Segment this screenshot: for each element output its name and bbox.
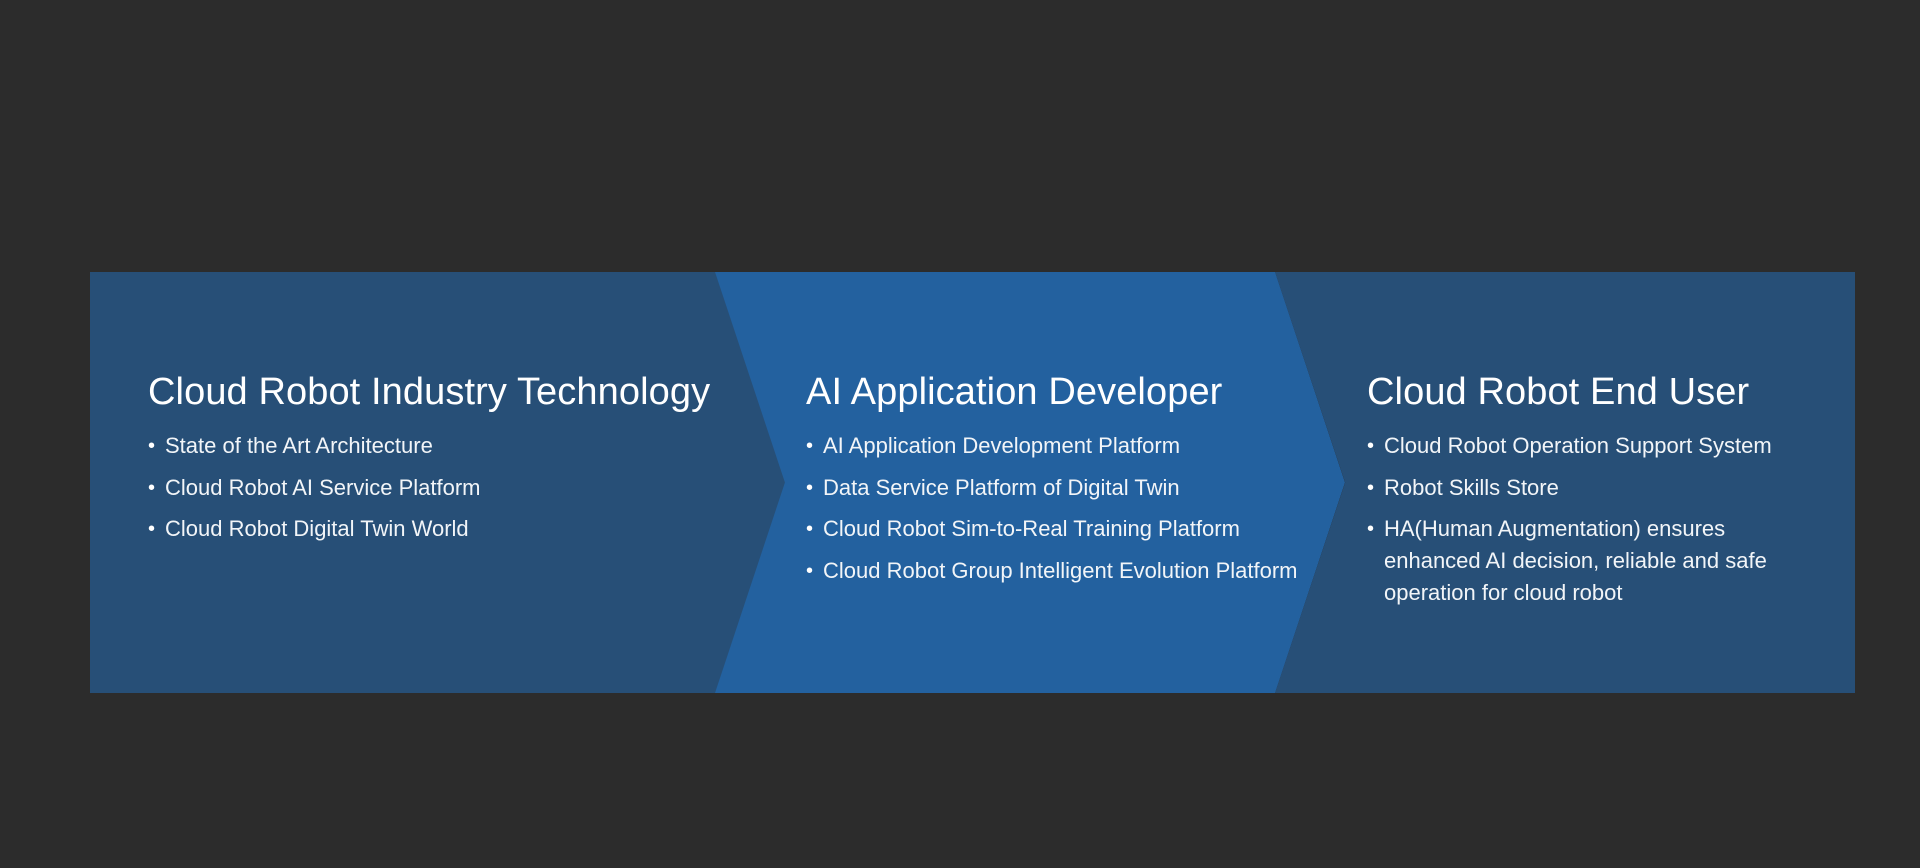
list-item: Cloud Robot Group Intelligent Evolution … [806,555,1346,587]
list-item: HA(Human Augmentation) ensures enhanced … [1367,513,1784,609]
list-item: Cloud Robot Operation Support System [1367,430,1784,462]
panel-title-end-user: Cloud Robot End User [1367,371,1749,414]
panel-content-industry-technology: Cloud Robot Industry Technology State of… [148,272,748,693]
panel-title-industry-technology: Cloud Robot Industry Technology [148,371,710,414]
list-item: Robot Skills Store [1367,472,1784,504]
bullet-list-ai-application-developer: AI Application Development Platform Data… [806,430,1346,596]
panel-title-ai-application-developer: AI Application Developer [806,371,1222,414]
list-item: AI Application Development Platform [806,430,1346,462]
panel-content-ai-application-developer: AI Application Developer AI Application … [806,272,1346,693]
list-item: Cloud Robot Digital Twin World [148,513,748,545]
list-item: Data Service Platform of Digital Twin [806,472,1346,504]
slide-canvas: Cloud Robot Industry Technology State of… [0,0,1920,868]
bullet-list-industry-technology: State of the Art Architecture Cloud Robo… [148,430,748,555]
chevron-banner: Cloud Robot Industry Technology State of… [90,272,1855,693]
panel-content-end-user: Cloud Robot End User Cloud Robot Operati… [1367,272,1837,693]
list-item: Cloud Robot AI Service Platform [148,472,748,504]
list-item: Cloud Robot Sim-to-Real Training Platfor… [806,513,1346,545]
bullet-list-end-user: Cloud Robot Operation Support System Rob… [1367,430,1837,619]
list-item: State of the Art Architecture [148,430,748,462]
